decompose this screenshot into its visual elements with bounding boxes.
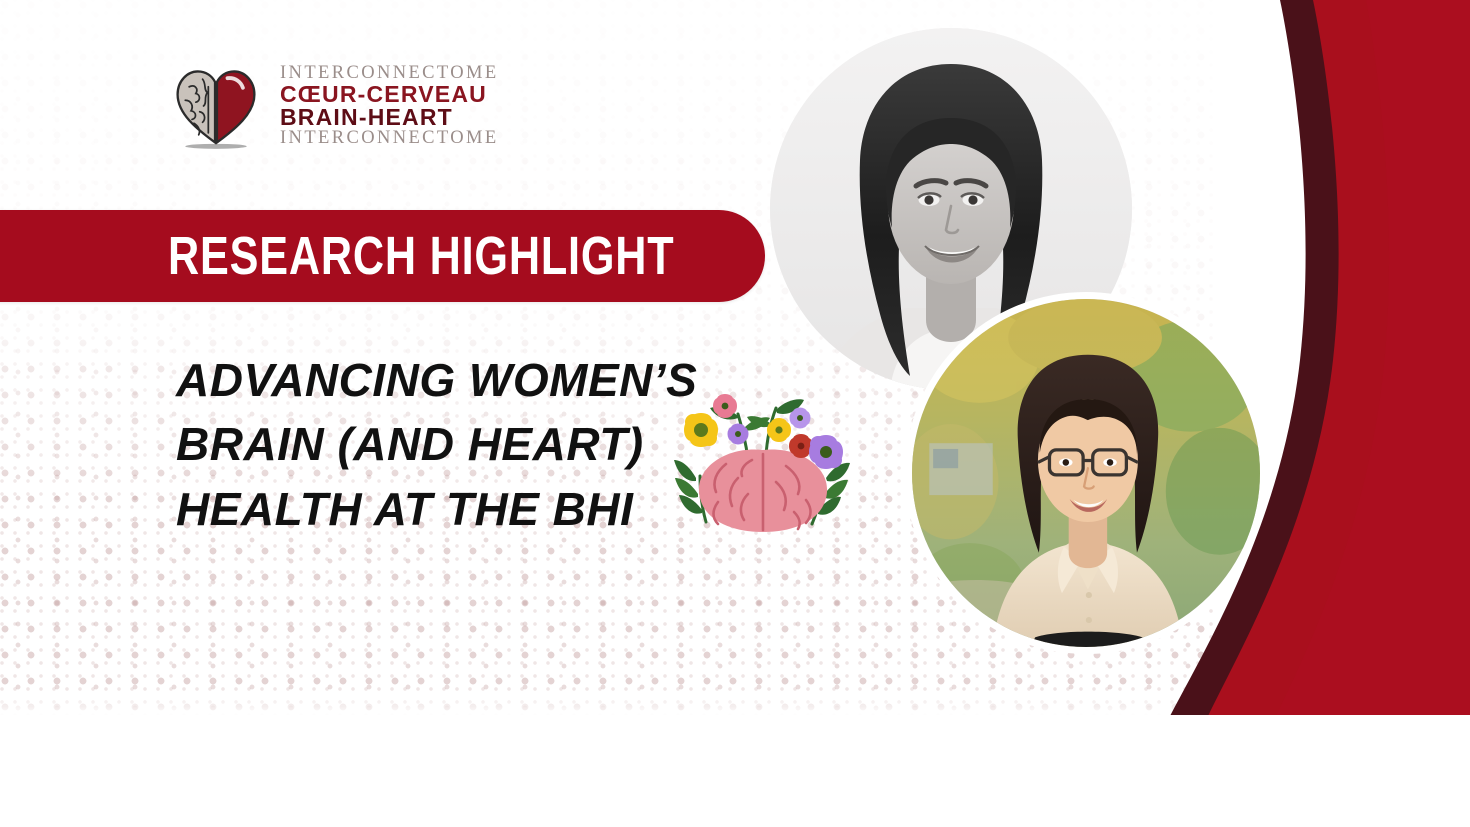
brand-line-1: INTERCONNECTOME (280, 64, 499, 83)
banner-label: RESEARCH HIGHLIGHT (168, 225, 674, 287)
page-title: ADVANCING WOMEN’S BRAIN (AND HEART) HEAL… (176, 348, 776, 541)
headline-line-1: ADVANCING WOMEN’S (176, 348, 776, 412)
portrait-researcher-two (905, 292, 1267, 654)
portrait-two-image (912, 299, 1260, 647)
research-highlight-slide: INTERCONNECTOME CŒUR-CERVEAU BRAIN-HEART… (0, 0, 1470, 827)
headline-line-3: HEALTH AT THE BHI (176, 477, 776, 541)
footer-logo-bar (0, 715, 1470, 827)
research-highlight-banner: RESEARCH HIGHLIGHT (0, 210, 765, 302)
headline-line-2: BRAIN (AND HEART) (176, 412, 776, 476)
brand-line-2: CŒUR-CERVEAU (280, 83, 499, 106)
header-brand-logo: INTERCONNECTOME CŒUR-CERVEAU BRAIN-HEART… (168, 58, 499, 154)
brain-heart-icon (168, 58, 264, 154)
brand-line-3: BRAIN-HEART (280, 106, 499, 129)
brand-line-4: INTERCONNECTOME (280, 129, 499, 148)
